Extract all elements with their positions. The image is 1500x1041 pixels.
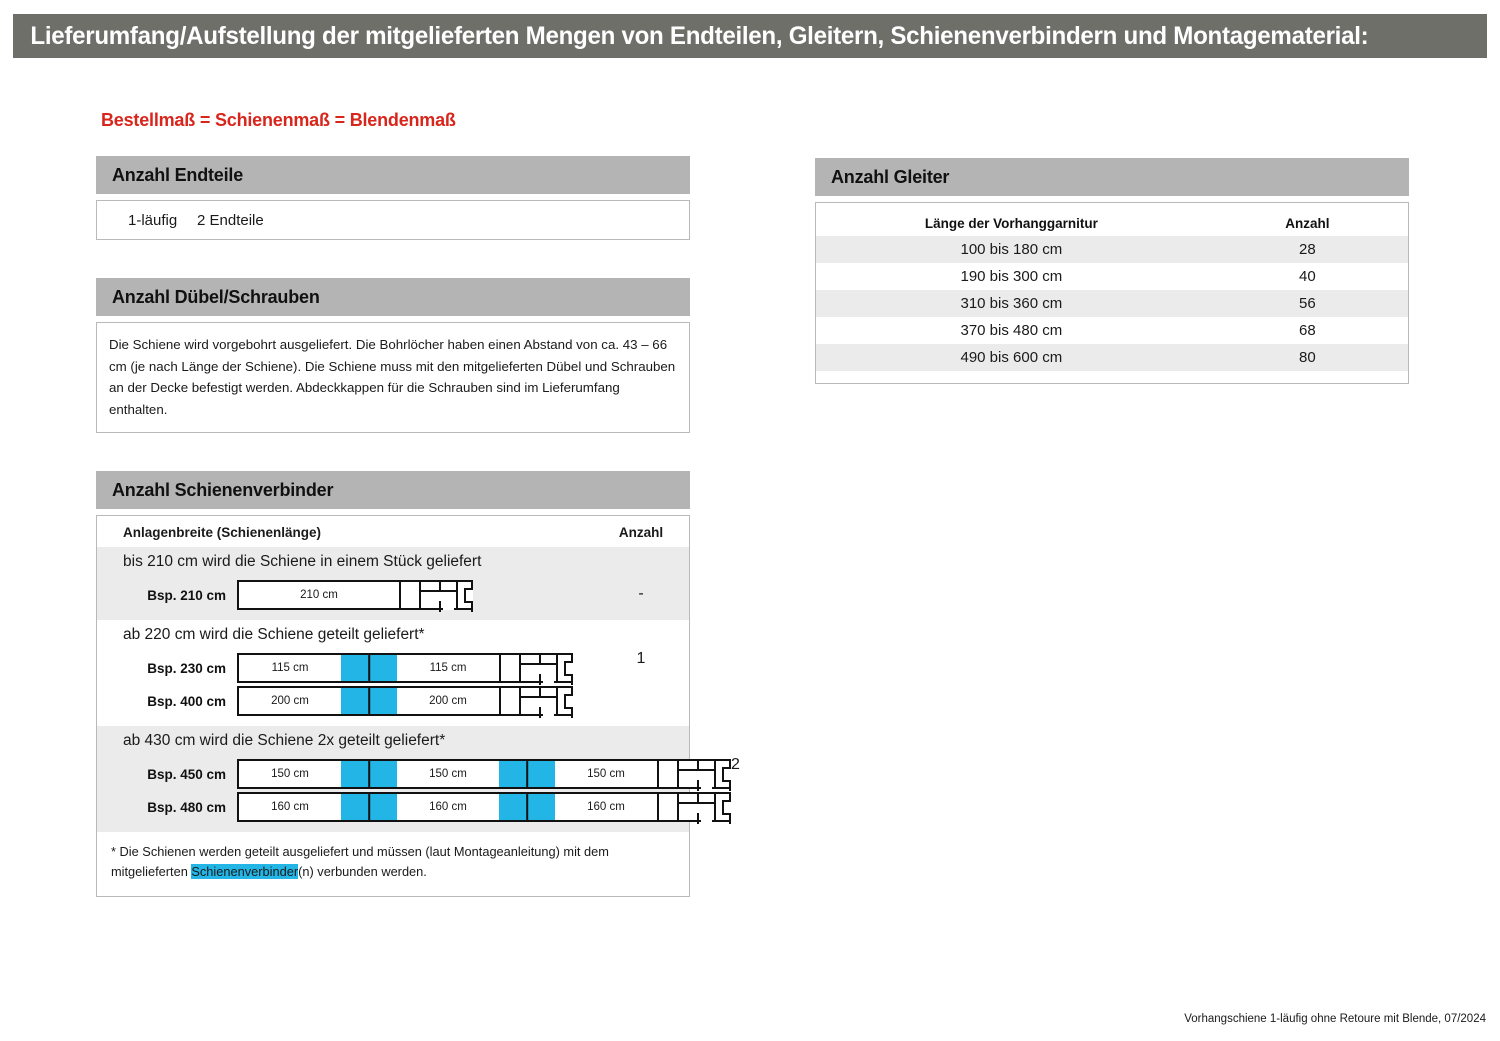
- rail-diagram: 160 cm160 cm160 cm: [237, 792, 731, 822]
- rail-connector-block: [499, 761, 555, 787]
- footnote-highlight: Schienenverbinder: [191, 864, 298, 879]
- gleiter-count: 28: [1207, 236, 1408, 263]
- gleiter-count: 80: [1207, 344, 1408, 371]
- gleiter-length: 310 bis 360 cm: [816, 290, 1207, 317]
- duebel-description: Die Schiene wird vorgebohrt ausgeliefert…: [97, 323, 689, 432]
- rail-connector-block: [341, 794, 397, 820]
- gleiter-count: 56: [1207, 290, 1408, 317]
- schienenverbinder-group: ab 220 cm wird die Schiene geteilt gelie…: [97, 620, 689, 726]
- schienenverbinder-group-body: bis 210 cm wird die Schiene in einem Stü…: [97, 547, 593, 620]
- gleiter-count: 40: [1207, 263, 1408, 290]
- panel-gleiter: Länge der Vorhanggarnitur Anzahl 100 bis…: [815, 202, 1409, 384]
- gleiter-count: 68: [1207, 317, 1408, 344]
- table-row: 310 bis 360 cm56: [816, 290, 1408, 317]
- rail-length-segment: 150 cm: [397, 761, 499, 787]
- page-title: Lieferumfang/Aufstellung der mitgeliefer…: [13, 22, 1368, 51]
- panel-endteile: 1-läufig2 Endteile: [96, 200, 690, 240]
- column-header-anlagenbreite: Anlagenbreite (Schienenlänge): [97, 525, 593, 540]
- schienenverbinder-group: bis 210 cm wird die Schiene in einem Stü…: [97, 547, 689, 620]
- table-row: 370 bis 480 cm68: [816, 317, 1408, 344]
- schienenverbinder-table-header: Anlagenbreite (Schienenlänge) Anzahl: [97, 516, 689, 547]
- rail-example-label: Bsp. 210 cm: [97, 588, 237, 603]
- rail-example-label: Bsp. 230 cm: [97, 661, 237, 676]
- rail-example-label: Bsp. 450 cm: [97, 767, 237, 782]
- rail-length-segment: 150 cm: [239, 761, 341, 787]
- rail-example-row: Bsp. 450 cm150 cm150 cm150 cm: [97, 759, 731, 789]
- table-row: 100 bis 180 cm28: [816, 236, 1408, 263]
- rail-connector-block: [341, 688, 397, 714]
- schienenverbinder-group-caption: ab 220 cm wird die Schiene geteilt gelie…: [97, 626, 593, 650]
- schienenverbinder-group-body: ab 430 cm wird die Schiene 2x geteilt ge…: [97, 726, 731, 832]
- rail-connector-block: [341, 655, 397, 681]
- rail-length-segment: 160 cm: [239, 794, 341, 820]
- rail-length-segment: 150 cm: [555, 761, 657, 787]
- section-title-endteile: Anzahl Endteile: [96, 165, 243, 186]
- section-header-gleiter: Anzahl Gleiter: [815, 158, 1409, 196]
- rail-body: 115 cm115 cm: [237, 653, 499, 683]
- page-header-banner: Lieferumfang/Aufstellung der mitgeliefer…: [13, 14, 1487, 58]
- rail-diagram: 150 cm150 cm150 cm: [237, 759, 731, 789]
- schienenverbinder-group-count: -: [593, 547, 689, 620]
- rail-end-cap-icon: [499, 686, 573, 716]
- endteile-type: 1-läufig: [97, 212, 197, 229]
- endteile-rows: 1-läufig2 Endteile: [97, 201, 689, 239]
- schienenverbinder-group-count: 1: [593, 620, 689, 726]
- rail-end-cap-icon: [657, 759, 731, 789]
- endteile-count: 2 Endteile: [197, 212, 264, 229]
- rail-example-label: Bsp. 400 cm: [97, 694, 237, 709]
- section-title-duebel: Anzahl Dübel/Schrauben: [96, 287, 320, 308]
- schienenverbinder-group-caption: ab 430 cm wird die Schiene 2x geteilt ge…: [97, 732, 731, 756]
- rail-end-cap-icon: [657, 792, 731, 822]
- rail-length-segment: 160 cm: [397, 794, 499, 820]
- schienenverbinder-group-caption: bis 210 cm wird die Schiene in einem Stü…: [97, 553, 593, 577]
- rail-example-row: Bsp. 400 cm200 cm200 cm: [97, 686, 593, 716]
- spacer: [96, 433, 690, 471]
- rail-end-cap-icon: [399, 580, 473, 610]
- schienenverbinder-group-body: ab 220 cm wird die Schiene geteilt gelie…: [97, 620, 593, 726]
- panel-duebel: Die Schiene wird vorgebohrt ausgeliefert…: [96, 322, 690, 433]
- rail-example-row: Bsp. 210 cm210 cm: [97, 580, 593, 610]
- rail-example-label: Bsp. 480 cm: [97, 800, 237, 815]
- section-header-duebel: Anzahl Dübel/Schrauben: [96, 278, 690, 316]
- rail-connector-block: [341, 761, 397, 787]
- section-title-schienenverbinder: Anzahl Schienenverbinder: [96, 480, 333, 501]
- gleiter-table-body: 100 bis 180 cm28190 bis 300 cm40310 bis …: [816, 236, 1408, 371]
- document-footer: Vorhangschiene 1-läufig ohne Retoure mit…: [1184, 1013, 1486, 1025]
- rail-diagram: 200 cm200 cm: [237, 686, 573, 716]
- gleiter-length: 490 bis 600 cm: [816, 344, 1207, 371]
- schienenverbinder-footnote: * Die Schienen werden geteilt ausgeliefe…: [97, 832, 689, 896]
- rail-diagram: 115 cm115 cm: [237, 653, 573, 683]
- table-header-row: Länge der Vorhanggarnitur Anzahl: [816, 211, 1408, 236]
- spacer: [96, 240, 690, 278]
- column-header-laenge: Länge der Vorhanggarnitur: [816, 211, 1207, 236]
- endteile-row: 1-läufig2 Endteile: [97, 201, 689, 239]
- left-column: Bestellmaß = Schienenmaß = Blendenmaß An…: [96, 110, 690, 897]
- rail-length-segment: 115 cm: [397, 655, 499, 681]
- schienenverbinder-group: ab 430 cm wird die Schiene 2x geteilt ge…: [97, 726, 689, 832]
- column-header-anzahl: Anzahl: [1207, 211, 1408, 236]
- panel-schienenverbinder: Anlagenbreite (Schienenlänge) Anzahl bis…: [96, 515, 690, 897]
- rail-body: 160 cm160 cm160 cm: [237, 792, 657, 822]
- table-row: 190 bis 300 cm40: [816, 263, 1408, 290]
- rail-length-segment: 210 cm: [239, 582, 399, 608]
- section-title-gleiter: Anzahl Gleiter: [815, 167, 949, 188]
- rail-length-segment: 200 cm: [239, 688, 341, 714]
- rail-connector-block: [499, 794, 555, 820]
- section-header-schienenverbinder: Anzahl Schienenverbinder: [96, 471, 690, 509]
- rail-end-cap-icon: [499, 653, 573, 683]
- right-column: Anzahl Gleiter Länge der Vorhanggarnitur…: [815, 158, 1409, 384]
- table-row: 490 bis 600 cm80: [816, 344, 1408, 371]
- rail-body: 150 cm150 cm150 cm: [237, 759, 657, 789]
- rail-example-row: Bsp. 230 cm115 cm115 cm: [97, 653, 593, 683]
- gleiter-table: Länge der Vorhanggarnitur Anzahl 100 bis…: [816, 211, 1408, 371]
- column-header-anzahl: Anzahl: [593, 525, 689, 540]
- section-header-endteile: Anzahl Endteile: [96, 156, 690, 194]
- rail-length-segment: 200 cm: [397, 688, 499, 714]
- rail-body: 210 cm: [237, 580, 399, 610]
- schienenverbinder-group-count: 2: [731, 726, 740, 832]
- gleiter-table-head: Länge der Vorhanggarnitur Anzahl: [816, 211, 1408, 236]
- rail-length-segment: 160 cm: [555, 794, 657, 820]
- gleiter-length: 190 bis 300 cm: [816, 263, 1207, 290]
- rail-length-segment: 115 cm: [239, 655, 341, 681]
- bestellmass-heading: Bestellmaß = Schienenmaß = Blendenmaß: [101, 110, 690, 131]
- footnote-text-after: (n) verbunden werden.: [298, 864, 427, 879]
- rail-diagram: 210 cm: [237, 580, 473, 610]
- gleiter-length: 100 bis 180 cm: [816, 236, 1207, 263]
- gleiter-length: 370 bis 480 cm: [816, 317, 1207, 344]
- rail-body: 200 cm200 cm: [237, 686, 499, 716]
- rail-example-row: Bsp. 480 cm160 cm160 cm160 cm: [97, 792, 731, 822]
- schienenverbinder-groups: bis 210 cm wird die Schiene in einem Stü…: [97, 547, 689, 832]
